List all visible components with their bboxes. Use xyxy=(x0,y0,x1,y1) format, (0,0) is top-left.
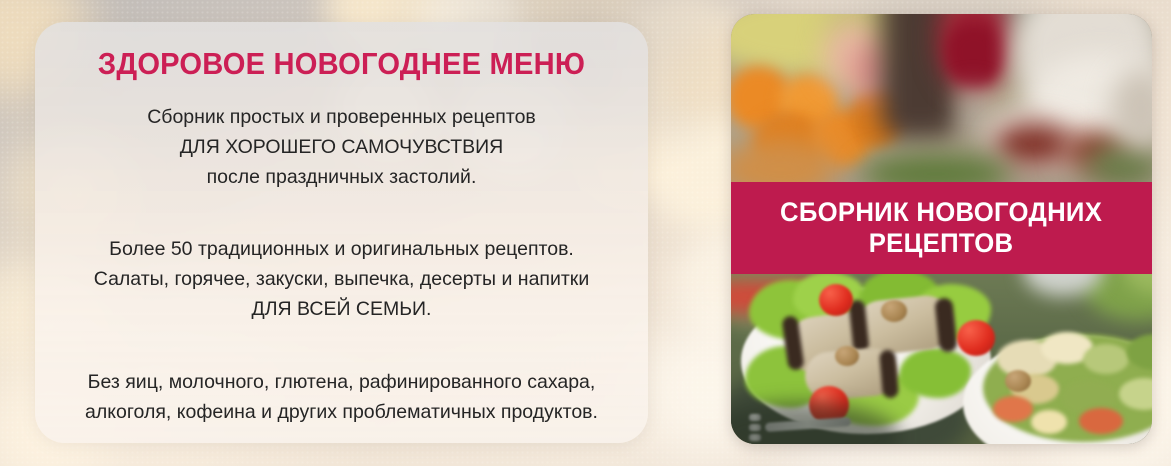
salad-bit xyxy=(1079,408,1123,434)
book-cover: СБОРНИК НОВОГОДНИХ РЕЦЕПТОВ xyxy=(731,14,1152,444)
free-from-block: Без яиц, молочного, глютена, рафинирован… xyxy=(35,367,648,427)
intro-line-1: Сборник простых и проверенных рецептов xyxy=(35,102,648,132)
intro-block: Сборник простых и проверенных рецептов Д… xyxy=(35,102,648,192)
intro-line-3: после праздничных застолий. xyxy=(35,162,648,192)
walnut xyxy=(881,300,907,322)
cover-title-line-1: СБОРНИК НОВОГОДНИХ xyxy=(780,197,1102,227)
contents-line-3: ДЛЯ ВСЕЙ СЕМЬИ. xyxy=(35,294,648,324)
intro-line-2: ДЛЯ ХОРОШЕГО САМОЧУВСТВИЯ xyxy=(35,132,648,162)
cover-title-banner: СБОРНИК НОВОГОДНИХ РЕЦЕПТОВ xyxy=(731,182,1152,274)
contents-line-2: Салаты, горячее, закуски, выпечка, десер… xyxy=(35,264,648,294)
wine-blob xyxy=(946,24,1002,86)
text-panel: ЗДОРОВОЕ НОВОГОДНЕЕ МЕНЮ Сборник простых… xyxy=(35,22,648,443)
cover-bottom-photo xyxy=(731,274,1152,444)
free-from-line-1: Без яиц, молочного, глютена, рафинирован… xyxy=(35,367,648,397)
walnut xyxy=(835,346,859,366)
greens-blob xyxy=(1086,144,1152,182)
salad-bit xyxy=(1083,344,1129,374)
walnut xyxy=(1005,370,1031,392)
cherry-tomato xyxy=(957,320,995,356)
greens-blob xyxy=(861,154,1011,182)
page-title: ЗДОРОВОЕ НОВОГОДНЕЕ МЕНЮ xyxy=(53,48,629,81)
cover-top-photo xyxy=(731,14,1152,182)
lettuce-leaf xyxy=(899,348,971,398)
salad-bit xyxy=(993,396,1033,422)
wine-stem-blob xyxy=(965,88,981,134)
free-from-line-2: алкоголя, кофеина и других проблематичны… xyxy=(35,397,648,427)
salad-bit xyxy=(1031,410,1067,434)
cover-title-text: СБОРНИК НОВОГОДНИХ РЕЦЕПТОВ xyxy=(780,197,1102,259)
cherry-tomato xyxy=(819,284,853,316)
cover-title-line-2: РЕЦЕПТОВ xyxy=(869,228,1014,258)
salad-blob xyxy=(993,122,1073,166)
contents-line-1: Более 50 традиционных и оригинальных рец… xyxy=(35,234,648,264)
contents-block: Более 50 традиционных и оригинальных рец… xyxy=(35,234,648,324)
